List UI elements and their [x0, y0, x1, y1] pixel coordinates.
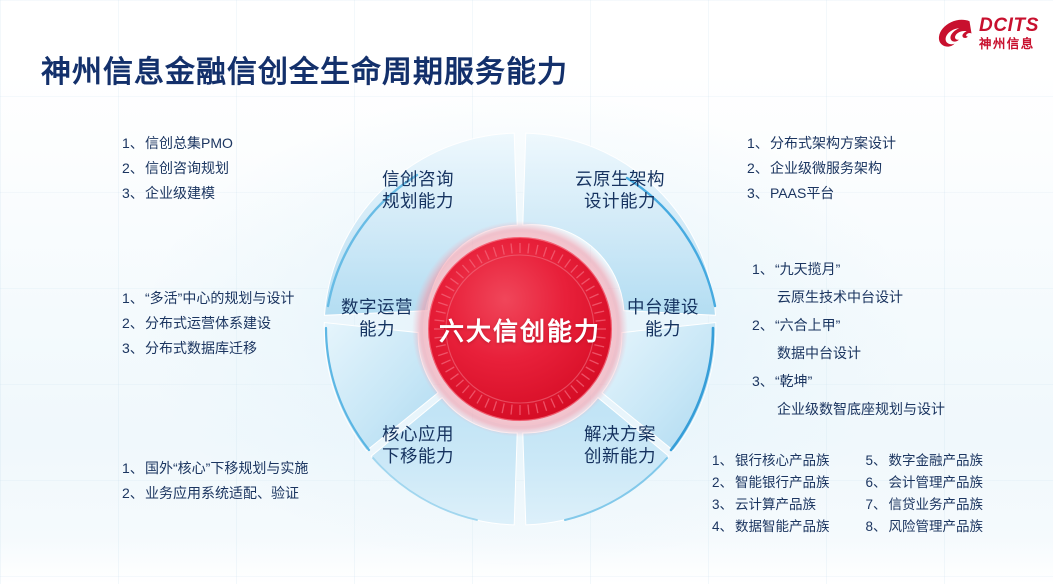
- list-item-subtext: 企业级数智底座规划与设计: [752, 395, 945, 423]
- list-item-text: 信创咨询规划: [145, 160, 229, 176]
- list-item: 3、企业级建模: [122, 181, 233, 206]
- logo-text: DCITS 神州信息: [979, 16, 1039, 51]
- list-item: 1、分布式架构方案设计: [747, 131, 896, 156]
- list-item: 1、银行核心产品族: [712, 450, 830, 472]
- list-item-number: 2、: [122, 311, 145, 336]
- list-column-1: 1、银行核心产品族 2、智能银行产品族 3、云计算产品族 4、数据智能产品族: [712, 450, 830, 538]
- list-item-text: “乾坤”: [775, 373, 812, 389]
- list-item-text: PAAS平台: [770, 185, 834, 201]
- dcits-logo: DCITS 神州信息: [938, 16, 1039, 51]
- list-item: 3、云计算产品族: [712, 494, 830, 516]
- list-item-number: 2、: [752, 311, 775, 339]
- capability-donut-diagram: 信创咨询 规划能力 云原生架构 设计能力 数字运营 能力 中台建设 能力 核心应…: [297, 128, 743, 530]
- list-item: 2、企业级微服务架构: [747, 156, 896, 181]
- list-item-number: 2、: [712, 472, 735, 494]
- list-item: 5、数字金融产品族: [866, 450, 984, 472]
- dcits-swirl-icon: [938, 18, 972, 48]
- list-item: 1、国外“核心”下移规划与实施: [122, 456, 308, 481]
- list-item-text: 分布式数据库迁移: [145, 340, 257, 356]
- list-item-text: 数字金融产品族: [889, 453, 984, 468]
- list-solution-innovation: 1、银行核心产品族 2、智能银行产品族 3、云计算产品族 4、数据智能产品族 5…: [712, 450, 983, 538]
- list-item-number: 5、: [866, 450, 889, 472]
- list-item-number: 2、: [122, 481, 145, 506]
- list-item-subtext: 云原生技术中台设计: [752, 283, 945, 311]
- list-item-text: 会计管理产品族: [889, 475, 984, 490]
- list-consulting: 1、信创总集PMO 2、信创咨询规划 3、企业级建模: [122, 131, 233, 206]
- list-item: 2、分布式运营体系建设: [122, 311, 294, 336]
- list-item-number: 1、: [752, 255, 775, 283]
- list-item-number: 2、: [747, 156, 770, 181]
- list-item-number: 1、: [747, 131, 770, 156]
- list-item-text: 企业级建模: [145, 185, 215, 201]
- list-item-text: 信贷业务产品族: [889, 497, 984, 512]
- list-item: 1、信创总集PMO: [122, 131, 233, 156]
- list-item-number: 3、: [752, 367, 775, 395]
- list-item-text: “九天揽月”: [775, 261, 840, 277]
- list-item-text: 分布式架构方案设计: [770, 135, 896, 151]
- list-item: 7、信贷业务产品族: [866, 494, 984, 516]
- list-item: 3、“乾坤”: [752, 367, 945, 395]
- list-item: 1、“九天揽月”: [752, 255, 945, 283]
- list-item-text: 分布式运营体系建设: [145, 315, 271, 331]
- list-item-number: 1、: [122, 131, 145, 156]
- list-item-number: 1、: [122, 456, 145, 481]
- list-item-number: 3、: [122, 181, 145, 206]
- list-item-text: 云计算产品族: [735, 497, 816, 512]
- list-item: 4、数据智能产品族: [712, 516, 830, 538]
- list-item-number: 1、: [712, 450, 735, 472]
- list-item-number: 3、: [712, 494, 735, 516]
- list-item: 1、“多活”中心的规划与设计: [122, 286, 294, 311]
- donut-svg: [297, 128, 743, 530]
- list-item-number: 8、: [866, 516, 889, 538]
- list-core-downshift: 1、国外“核心”下移规划与实施 2、业务应用系统适配、验证: [122, 456, 308, 506]
- list-item-subtext: 数据中台设计: [752, 339, 945, 367]
- list-item-text: 银行核心产品族: [735, 453, 830, 468]
- list-item: 6、会计管理产品族: [866, 472, 984, 494]
- list-item: 3、PAAS平台: [747, 181, 896, 206]
- list-digital-ops: 1、“多活”中心的规划与设计 2、分布式运营体系建设 3、分布式数据库迁移: [122, 286, 294, 361]
- list-column-2: 5、数字金融产品族 6、会计管理产品族 7、信贷业务产品族 8、风险管理产品族: [866, 450, 984, 538]
- list-item-text: 企业级微服务架构: [770, 160, 882, 176]
- list-item-text: 信创总集PMO: [145, 135, 233, 151]
- list-item-text: 数据智能产品族: [735, 519, 830, 534]
- list-item-number: 6、: [866, 472, 889, 494]
- list-item-number: 7、: [866, 494, 889, 516]
- list-item: 8、风险管理产品族: [866, 516, 984, 538]
- list-item-number: 2、: [122, 156, 145, 181]
- list-item-number: 3、: [122, 336, 145, 361]
- list-item-text: “六合上甲”: [775, 317, 840, 333]
- list-item-text: 风险管理产品族: [889, 519, 984, 534]
- page-title: 神州信息金融信创全生命周期服务能力: [41, 47, 568, 91]
- logo-en-text: DCITS: [979, 16, 1039, 35]
- list-item: 2、信创咨询规划: [122, 156, 233, 181]
- logo-cn-text: 神州信息: [979, 38, 1039, 51]
- list-item-number: 4、: [712, 516, 735, 538]
- list-item: 2、智能银行产品族: [712, 472, 830, 494]
- list-item-text: 国外“核心”下移规划与实施: [145, 460, 308, 476]
- list-item-text: 智能银行产品族: [735, 475, 830, 490]
- list-midplatform: 1、“九天揽月” 云原生技术中台设计 2、“六合上甲” 数据中台设计 3、“乾坤…: [752, 255, 945, 423]
- list-item-number: 1、: [122, 286, 145, 311]
- list-cloud-native: 1、分布式架构方案设计 2、企业级微服务架构 3、PAAS平台: [747, 131, 896, 206]
- list-item-number: 3、: [747, 181, 770, 206]
- list-item: 2、“六合上甲”: [752, 311, 945, 339]
- list-item-text: “多活”中心的规划与设计: [145, 290, 294, 306]
- list-item-text: 业务应用系统适配、验证: [145, 485, 299, 501]
- center-hub: [412, 221, 628, 437]
- list-item: 2、业务应用系统适配、验证: [122, 481, 308, 506]
- list-item: 3、分布式数据库迁移: [122, 336, 294, 361]
